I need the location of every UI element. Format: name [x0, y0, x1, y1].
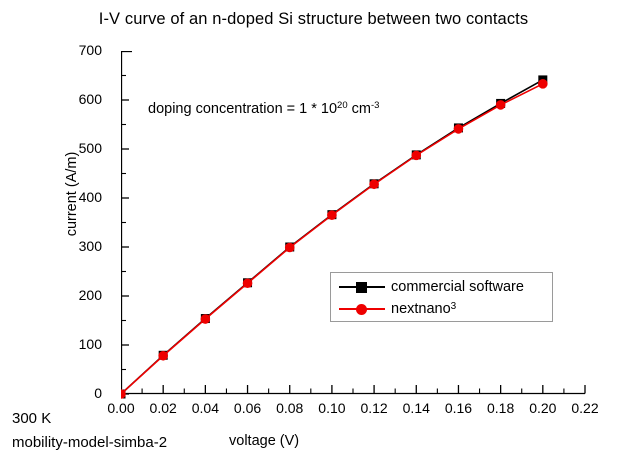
data-point-circle: [201, 314, 211, 324]
series-line-1: [121, 84, 543, 394]
axes: [121, 51, 585, 394]
data-point-circle: [158, 351, 168, 361]
y-tick-label: 0: [0, 385, 110, 401]
legend-entry-nextnano: nextnano3: [331, 298, 552, 320]
data-point-circle: [369, 179, 379, 189]
legend-marker-circle: [356, 304, 367, 315]
y-tick-label: 100: [0, 336, 110, 352]
legend-marker-square: [356, 282, 367, 293]
chart-legend: commercial software nextnano3: [330, 272, 553, 322]
legend-sample-circle: [339, 302, 385, 316]
data-point-circle: [411, 151, 421, 161]
legend-sample-square: [339, 280, 385, 294]
data-point-circle: [496, 100, 506, 110]
legend-entry-commercial-software: commercial software: [331, 276, 552, 298]
legend-label-commercial-software: commercial software: [391, 279, 524, 295]
data-series: [121, 75, 548, 398]
annotation-mobility-model: mobility-model-simba-2: [12, 434, 167, 451]
y-tick-label: 300: [0, 238, 110, 254]
data-point-circle: [243, 278, 253, 288]
legend-label-nextnano-text: nextnano: [391, 301, 451, 317]
y-tick-label: 200: [0, 287, 110, 303]
y-tick-label: 700: [0, 42, 110, 58]
data-point-circle: [538, 79, 548, 89]
chart-figure: I-V curve of an n-doped Si structure bet…: [0, 0, 627, 460]
series-line-0: [121, 80, 543, 394]
legend-label-nextnano-sup: 3: [451, 301, 457, 312]
x-axis-title: voltage (V): [229, 433, 299, 449]
annotation-temperature: 300 K: [12, 410, 51, 427]
data-point-circle: [327, 210, 337, 220]
chart-title: I-V curve of an n-doped Si structure bet…: [0, 10, 627, 29]
x-tick-label: 0.22: [555, 400, 615, 416]
plot-area: [121, 51, 585, 394]
y-tick-label: 400: [0, 189, 110, 205]
y-tick-label: 600: [0, 91, 110, 107]
legend-label-nextnano: nextnano3: [391, 301, 456, 317]
data-point-circle: [454, 124, 464, 134]
y-tick-label: 500: [0, 140, 110, 156]
data-point-circle: [285, 243, 295, 253]
plot-svg: [121, 51, 591, 401]
